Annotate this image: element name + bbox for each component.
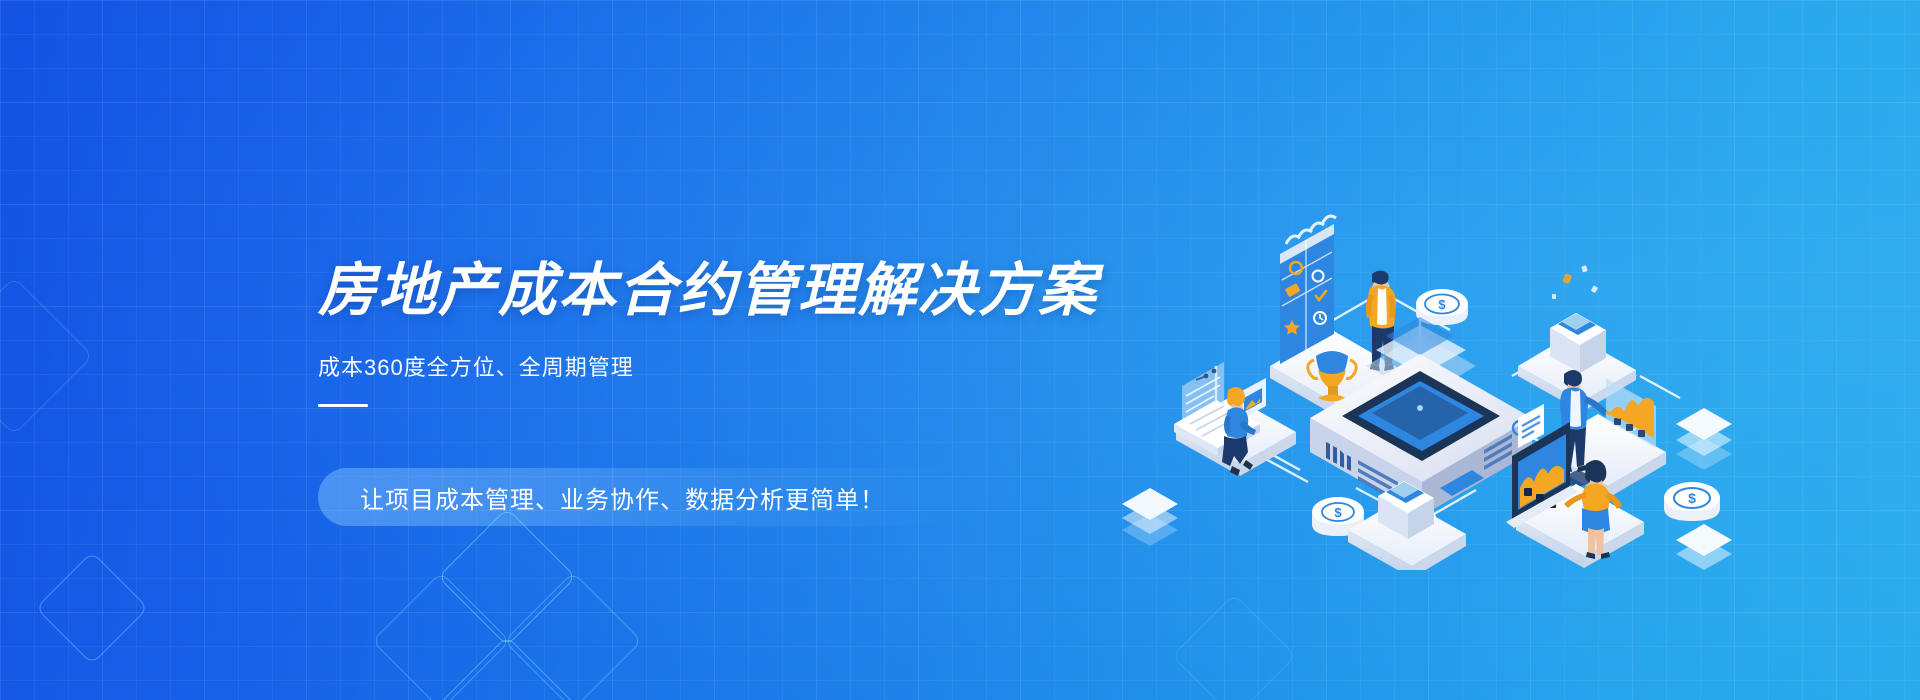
page-subtitle: 成本360度全方位、全周期管理 (318, 350, 1138, 382)
decor-diamond-cluster-top (438, 508, 577, 647)
currency-symbol-right: $ (1688, 490, 1696, 506)
tagline-pill: 让项目成本管理、业务协作、数据分析更简单！ (318, 468, 958, 526)
layered-sheets-top (1676, 408, 1732, 470)
page-title: 房地产成本合约管理解决方案 (318, 262, 1138, 320)
decor-diamond-cluster-right (504, 572, 643, 700)
decor-diamond-cluster-left (372, 572, 511, 700)
currency-symbol: $ (1438, 297, 1446, 312)
tagline-text: 让项目成本管理、业务协作、数据分析更简单！ (360, 480, 885, 515)
hero-copy-block: 房地产成本合约管理解决方案 成本360度全方位、全周期管理 让项目成本管理、业务… (318, 262, 1138, 407)
decor-diamond-cluster-bottom (438, 636, 577, 700)
layered-sheets-bottom (1676, 524, 1732, 570)
decor-diamond-edge (0, 277, 93, 435)
layered-sheets-left (1122, 488, 1178, 546)
currency-symbol-bottom: $ (1334, 505, 1342, 520)
hero-banner: 房地产成本合约管理解决方案 成本360度全方位、全周期管理 让项目成本管理、业务… (0, 0, 1920, 700)
hero-illustration: $ (1120, 170, 1740, 570)
decor-diamond-left (35, 551, 148, 664)
title-divider (318, 404, 368, 407)
decor-diamond-mid (1172, 594, 1296, 700)
coin-stack-right: $ (1664, 482, 1720, 521)
isometric-network-graphic: $ (1120, 170, 1740, 570)
